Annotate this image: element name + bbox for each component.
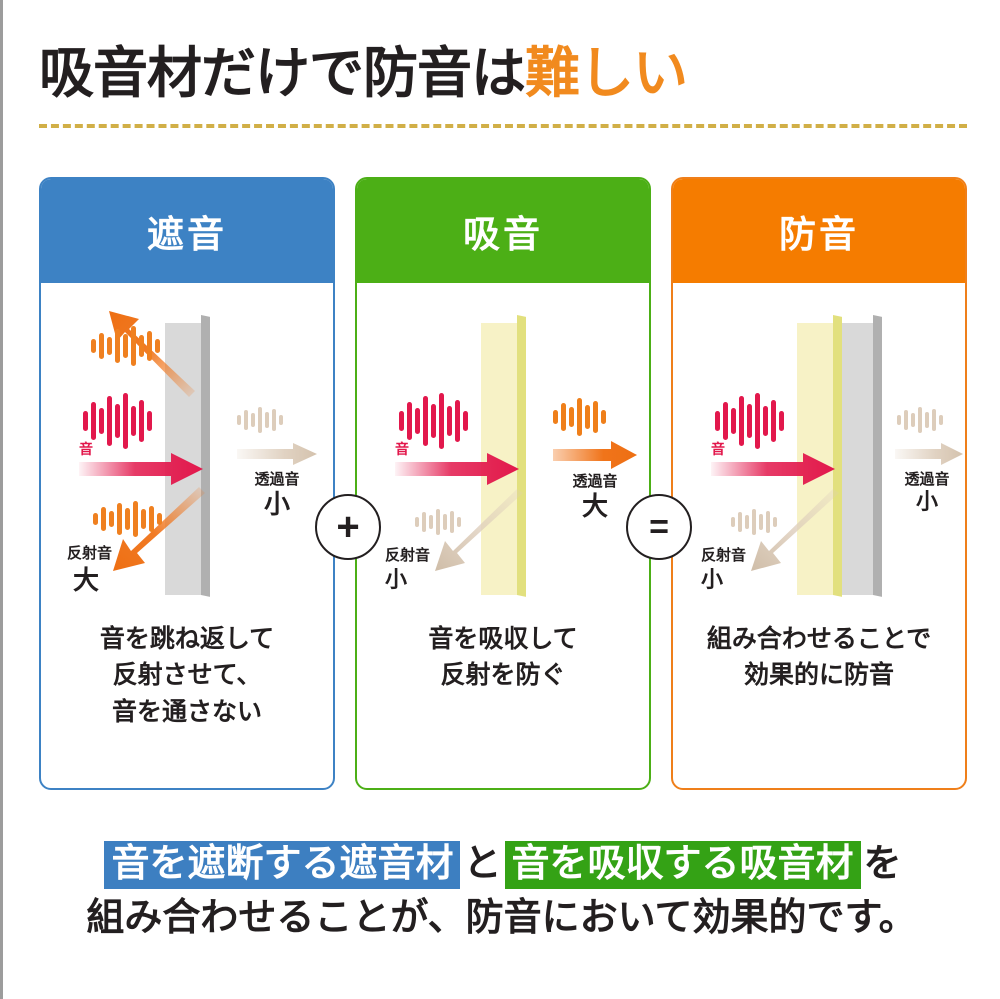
panels-row: 遮音 — [39, 177, 967, 790]
summary-line-1: 音を遮断する遮音材と音を吸収する吸音材を — [3, 838, 1000, 892]
reflected-label: 反射音 — [385, 547, 430, 565]
transmitted-label: 透過音 — [553, 473, 637, 491]
transmitted-wave — [897, 403, 943, 437]
equals-operator-icon: = — [626, 494, 692, 560]
panel-body-shaon: 音 — [41, 283, 333, 790]
incoming-wave — [83, 391, 152, 451]
transmitted-level: 大 — [553, 491, 637, 522]
panel-body-kyuon: 音 — [357, 283, 649, 790]
diagram-shaon: 音 — [41, 283, 333, 633]
reflected-wave — [731, 505, 777, 539]
title-accent: 難しい — [525, 42, 687, 104]
panel-kyuon: 吸音 音 — [355, 177, 651, 790]
plus-operator-icon: + — [315, 494, 381, 560]
transmitted-label: 透過音 — [237, 471, 317, 489]
panel-bouon: 防音 音 — [671, 177, 967, 790]
incoming-wave — [715, 391, 784, 451]
reflected-label: 反射音 — [67, 545, 112, 563]
diagram-bouon: 音 透過音 小 — [673, 283, 965, 633]
highlight-shaonzai: 音を遮断する遮音材 — [104, 841, 460, 889]
title-main: 吸音材だけで防音は — [39, 42, 525, 104]
wall-edge — [873, 315, 882, 597]
transmitted-arrow — [237, 443, 319, 465]
panel-body-bouon: 音 透過音 小 — [673, 283, 965, 790]
incoming-wave — [399, 391, 468, 451]
summary-statement: 音を遮断する遮音材と音を吸収する吸音材を 組み合わせることが、防音において効果的… — [3, 838, 1000, 946]
transmitted-wave — [237, 403, 283, 437]
panel-shaon: 遮音 — [39, 177, 335, 790]
reflected-label: 反射音 — [701, 547, 746, 565]
panel-header-shaon: 遮音 — [41, 179, 333, 283]
equals-sign: = — [649, 510, 669, 544]
reflected-level: 大 — [73, 565, 99, 596]
panel-caption-bouon: 組み合わせることで 効果的に防音 — [673, 621, 965, 694]
reflected-level: 小 — [385, 567, 407, 593]
transmitted-arrow — [553, 441, 639, 469]
barrier-wall — [837, 315, 881, 595]
title-divider — [39, 124, 967, 128]
incoming-arrow — [711, 453, 837, 485]
plus-sign: + — [336, 507, 359, 547]
transmitted-arrow — [895, 443, 965, 465]
summary-line-2: 組み合わせることが、防音において効果的です。 — [3, 892, 1000, 946]
incoming-arrow — [395, 453, 521, 485]
transmitted-label: 透過音 — [889, 471, 965, 489]
infographic-page: 吸音材だけで防音は難しい 遮音 — [0, 0, 1000, 999]
page-title: 吸音材だけで防音は難しい — [39, 28, 687, 108]
reflected-wave — [415, 505, 461, 539]
panel-caption-shaon: 音を跳ね返して 反射させて、 音を通さない — [41, 621, 333, 730]
incoming-arrow — [79, 453, 205, 485]
reflected-level: 小 — [701, 567, 723, 593]
panel-header-bouon: 防音 — [673, 179, 965, 283]
transmitted-level: 小 — [237, 489, 317, 520]
summary-particle: を — [864, 843, 902, 885]
panel-caption-kyuon: 音を吸収して 反射を防ぐ — [357, 621, 649, 694]
reflected-wave-down — [93, 499, 162, 539]
summary-conjunction: と — [463, 843, 501, 885]
transmitted-level: 小 — [889, 489, 965, 515]
reflected-wave-up — [91, 323, 160, 369]
transmitted-wave — [553, 395, 606, 439]
diagram-kyuon: 音 — [357, 283, 649, 633]
panel-header-kyuon: 吸音 — [357, 179, 649, 283]
highlight-kyuonzai: 音を吸収する吸音材 — [505, 841, 861, 889]
